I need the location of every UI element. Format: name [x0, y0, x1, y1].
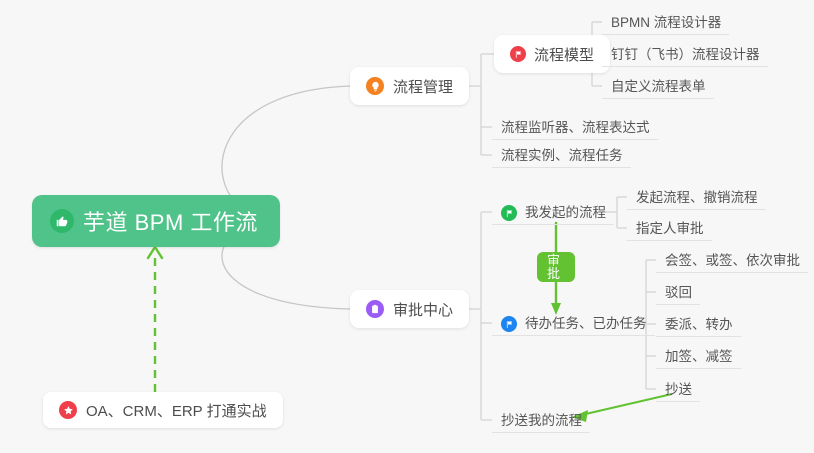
branch-label: 流程管理 [393, 76, 453, 97]
leaf-process-listener[interactable]: 流程监听器、流程表达式 [492, 114, 658, 140]
node-todo-done-tasks[interactable]: 待办任务、已办任务 [492, 310, 655, 336]
leaf-delegate-transfer[interactable]: 委派、转办 [656, 311, 741, 337]
leaf-bpmn-designer[interactable]: BPMN 流程设计器 [602, 9, 729, 35]
lightbulb-icon [366, 77, 384, 95]
footer-note[interactable]: OA、CRM、ERP 打通实战 [43, 392, 283, 428]
leaf-countersign[interactable]: 会签、或签、依次审批 [656, 247, 808, 273]
leaf-process-instance[interactable]: 流程实例、流程任务 [492, 142, 631, 168]
flag-icon [501, 316, 517, 332]
leaf-cc-my-processes[interactable]: 抄送我的流程 [492, 407, 590, 433]
leaf-reject[interactable]: 驳回 [656, 279, 700, 305]
leaf-label: 流程监听器、流程表达式 [501, 116, 650, 136]
leaf-label: 抄送我的流程 [501, 409, 582, 429]
leaf-label: 自定义流程表单 [611, 75, 706, 95]
leaf-start-cancel-process[interactable]: 发起流程、撤销流程 [627, 184, 766, 210]
leaf-label: 流程实例、流程任务 [501, 144, 623, 164]
flag-icon [510, 46, 526, 62]
leaf-label: 会签、或签、依次审批 [665, 249, 800, 269]
thumbs-up-icon [50, 209, 74, 233]
mindmap-canvas: 芋道 BPM 工作流 流程管理 流程模型 BPMN 流程设计器 钉钉（飞书）流程… [0, 0, 814, 453]
approval-pill-label: 审批 [547, 254, 565, 280]
leaf-assigned-approval[interactable]: 指定人审批 [627, 215, 712, 241]
leaf-label: 发起流程、撤销流程 [636, 186, 758, 206]
node-my-started-processes[interactable]: 我发起的流程 [492, 199, 614, 225]
footer-note-label: OA、CRM、ERP 打通实战 [86, 400, 267, 421]
branch-label: 审批中心 [393, 299, 453, 320]
approval-annotation-pill: 审批 [537, 252, 575, 282]
star-icon [59, 401, 77, 419]
leaf-label: 抄送 [665, 378, 692, 398]
arrow-footer-head [148, 247, 162, 258]
leaf-label: 加签、减签 [665, 345, 733, 365]
branch-process-management[interactable]: 流程管理 [350, 67, 469, 105]
branch-approval-center[interactable]: 审批中心 [350, 290, 469, 328]
leaf-add-remove-sign[interactable]: 加签、减签 [656, 343, 741, 369]
node-label: 流程模型 [534, 44, 594, 65]
root-node[interactable]: 芋道 BPM 工作流 [32, 195, 280, 247]
root-label: 芋道 BPM 工作流 [83, 205, 258, 237]
node-label: 待办任务、已办任务 [525, 312, 647, 332]
leaf-custom-form[interactable]: 自定义流程表单 [602, 73, 714, 99]
flag-icon [501, 205, 517, 221]
leaf-label: 指定人审批 [636, 217, 704, 237]
node-label: 我发起的流程 [525, 201, 606, 221]
leaf-label: 委派、转办 [665, 313, 733, 333]
leaf-label: 驳回 [665, 281, 692, 301]
leaf-label: BPMN 流程设计器 [611, 11, 721, 31]
leaf-label: 钉钉（飞书）流程设计器 [611, 43, 760, 63]
node-process-model[interactable]: 流程模型 [494, 35, 610, 73]
leaf-dingtalk-designer[interactable]: 钉钉（飞书）流程设计器 [602, 41, 768, 67]
clipboard-icon [366, 300, 384, 318]
leaf-carbon-copy[interactable]: 抄送 [656, 376, 700, 402]
